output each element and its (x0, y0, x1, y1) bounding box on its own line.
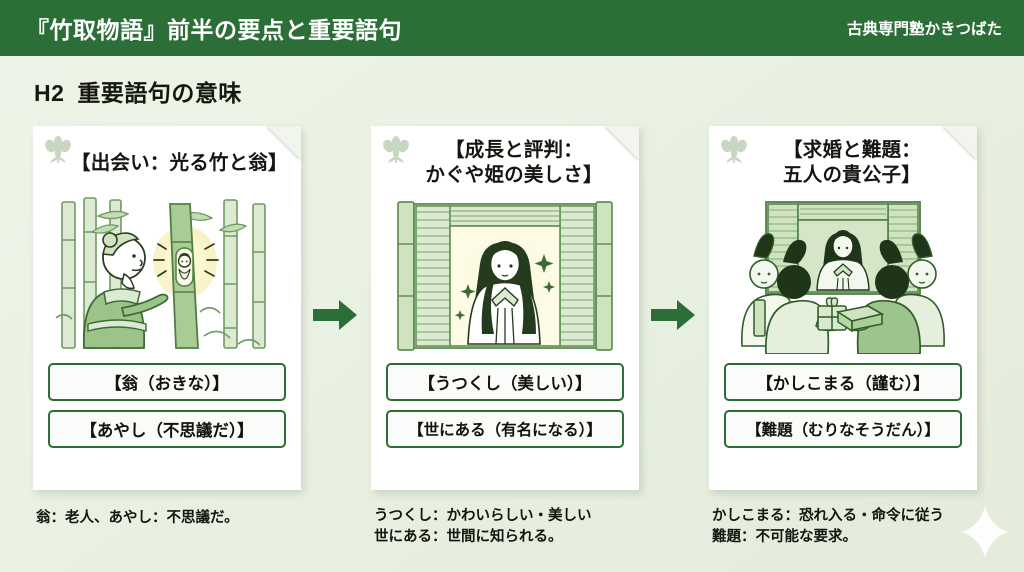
card-title-line1: 【求婚と難題： (747, 138, 957, 163)
card-title-line2: 五人の貴公子】 (747, 163, 957, 188)
header-brand: 古典専門塾かきつばた (847, 17, 1002, 39)
section-heading-title: 重要語句の意味 (77, 80, 242, 106)
term-box[interactable]: 【かしこまる（謹む）】 (724, 363, 962, 401)
term-box[interactable]: 【うつくし（美しい）】 (386, 363, 624, 401)
term-box[interactable]: 【世にある（有名になる）】 (386, 410, 624, 448)
arrow-card1-to-card2-icon (311, 298, 359, 332)
slide-root: 『竹取物語』前半の要点と重要語句 古典専門塾かきつばた H2重要語句の意味 (0, 0, 1024, 572)
illustration-old-man-and-glowing-bamboo (48, 196, 286, 354)
term-box[interactable]: 【難題（むりなそうだん）】 (724, 410, 962, 448)
card-caption: 翁：老人、あやし：不思議だ。 (36, 508, 239, 529)
card-growth-and-reputation[interactable]: 【成長と評判： かぐや姫の美しさ】 (371, 126, 639, 490)
term-box[interactable]: 【あやし（不思議だ）】 (48, 410, 286, 448)
header-title: 『竹取物語』前半の要点と重要語句 (26, 11, 402, 45)
slide-header: 『竹取物語』前半の要点と重要語句 古典専門塾かきつばた (0, 0, 1024, 56)
card-title-line2: かぐや姫の美しさ】 (409, 163, 619, 188)
section-heading: H2重要語句の意味 (34, 74, 242, 108)
term-box[interactable]: 【翁（おきな）】 (48, 363, 286, 401)
card-title: 【成長と評判： かぐや姫の美しさ】 (385, 136, 625, 188)
card-caption: うつくし：かわいらしい・美しい 世にある：世間に知られる。 (374, 506, 592, 548)
illustration-kaguya-hime-behind-blinds (386, 196, 624, 354)
card-encounter[interactable]: 【出会い：光る竹と翁】 (33, 126, 301, 490)
card-title-line1: 【出会い：光る竹と翁】 (71, 151, 281, 176)
arrow-card2-to-card3-icon (649, 298, 697, 332)
card-caption: かしこまる：恐れ入る・命令に従う 難題：不可能な要求。 (712, 506, 944, 548)
section-heading-tag: H2 (34, 80, 64, 106)
card-title: 【求婚と難題： 五人の貴公子】 (723, 136, 963, 188)
card-courtship-and-trials[interactable]: 【求婚と難題： 五人の貴公子】 (709, 126, 977, 490)
card-title-line1: 【成長と評判： (409, 138, 619, 163)
cards-row: 【出会い：光る竹と翁】 (0, 126, 1024, 546)
illustration-noblemen-offering-gifts (724, 196, 962, 354)
card-title: 【出会い：光る竹と翁】 (47, 136, 287, 188)
